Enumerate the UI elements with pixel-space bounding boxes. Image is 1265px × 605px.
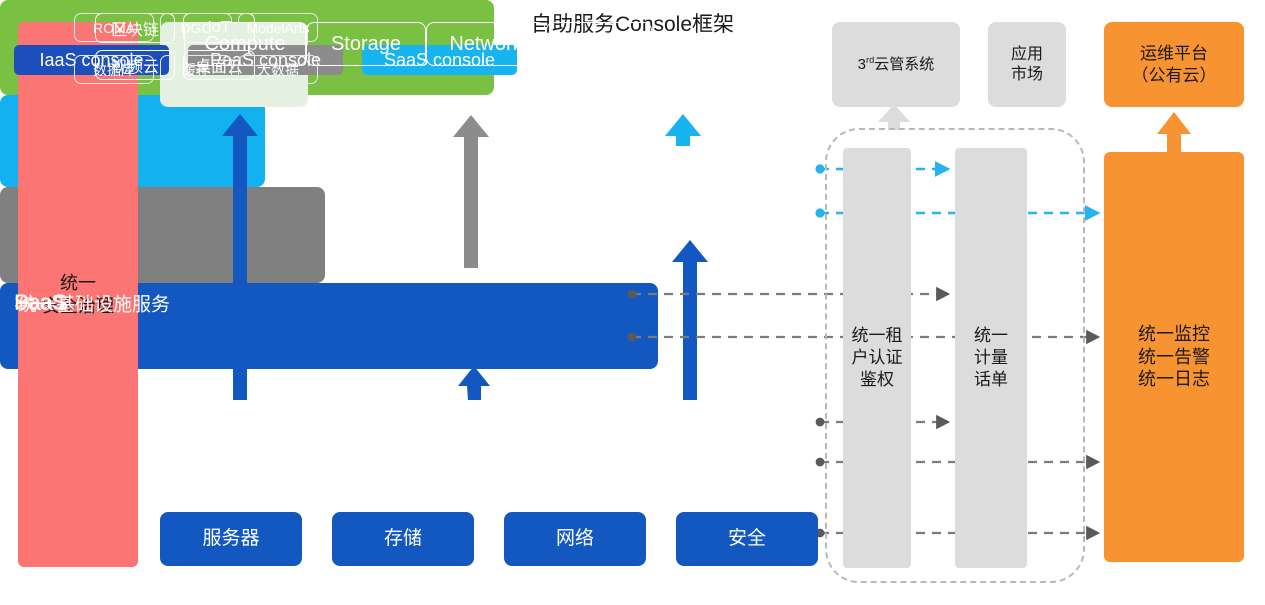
infra-service-cce[interactable]: CCE [546,22,652,66]
foundation-item-security[interactable]: 安全 [676,512,818,566]
tenant-auth-line3: 鉴权 [852,369,903,391]
infra-service-storage[interactable]: Storage [306,22,426,66]
foundation-item-network[interactable]: 网络 [504,512,646,566]
arrow-infra-to-paas [458,366,490,400]
app-market-line1: 应用 [1011,45,1043,65]
arrow-platform-to-third-cloud [878,104,910,130]
ops-platform-box: 运维平台 （公有云） [1104,22,1244,107]
metering-line1: 统一 [974,325,1008,347]
app-market-box: 应用 市场 [988,22,1066,107]
metering-line3: 话单 [974,369,1008,391]
flow-dot [816,458,825,467]
monitoring-line1: 统一监控 [1138,323,1210,346]
infrastructure-layer-label: 统一基础设施服务 [18,289,170,316]
flow-dot [815,164,824,173]
foundation-item-server[interactable]: 服务器 [160,512,302,566]
ops-platform-line2: （公有云） [1132,65,1217,86]
monitoring-line3: 统一日志 [1138,368,1210,391]
tenant-auth-line1: 统一租 [852,325,903,347]
flow-dot [815,208,824,217]
tenant-auth-line2: 户认证 [852,347,903,369]
architecture-diagram: 统一 安全治理 API网关 自助服务Console框架 IaaS console… [0,0,1265,605]
app-market-line2: 市场 [1011,65,1043,85]
arrow-infra-to-saas [672,240,708,400]
arrow-saas-to-console [665,114,701,146]
paas-service-roma[interactable]: ROMA [74,13,154,42]
flow-dot [816,418,825,427]
metering-line2: 计量 [974,347,1008,369]
ops-platform-line1: 运维平台 [1132,43,1217,64]
monitoring-line2: 统一告警 [1138,346,1210,369]
infra-service-compute[interactable]: Compute [184,22,306,66]
infra-service-network[interactable]: Network [426,22,546,66]
paas-service-database[interactable]: 数据库 [74,55,154,84]
third-party-cloud-mgmt-label: 3rd云管系统 [858,55,935,75]
metering-billing-column: 统一 计量 话单 [955,148,1027,568]
third-party-cloud-mgmt-box: 3rd云管系统 [832,22,960,107]
arrow-monitoring-to-ops-platform [1157,112,1191,152]
monitoring-panel: 统一监控 统一告警 统一日志 [1104,152,1244,562]
tenant-auth-column: 统一租 户认证 鉴权 [843,148,911,568]
arrow-paas-to-console [453,115,489,268]
foundation-item-storage[interactable]: 存储 [332,512,474,566]
